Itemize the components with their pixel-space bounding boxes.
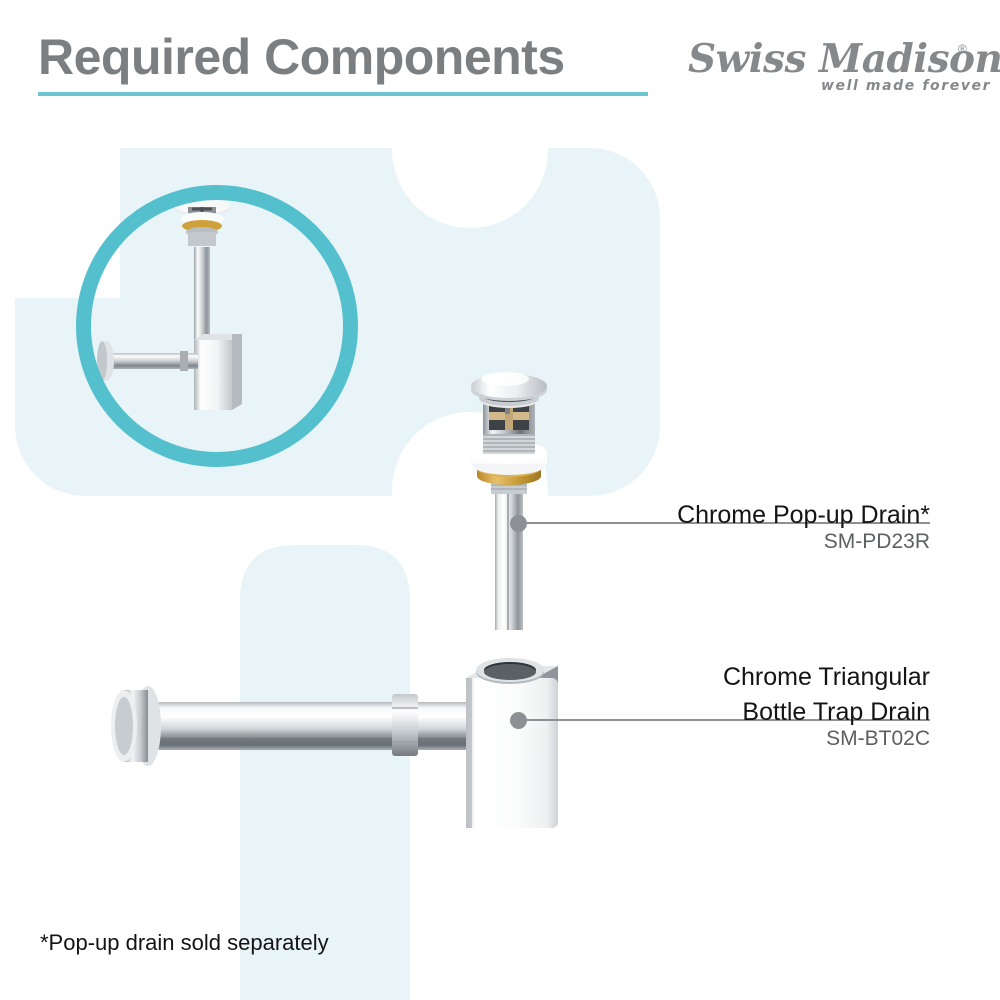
callout-sku-bottle-trap: SM-BT02C: [826, 727, 930, 751]
footnote-text: *Pop-up drain sold separately: [40, 930, 329, 956]
brand-name: Swiss Madison: [688, 36, 970, 82]
title-underline-accent: [38, 92, 648, 96]
inset-highlight-ring: [76, 185, 358, 467]
brand-logo: Swiss Madison ® well made forever: [688, 36, 978, 98]
chrome-pop-up-drain-illustration: [455, 360, 575, 630]
brand-tagline: well made forever: [821, 78, 991, 94]
page-title: Required Components: [38, 28, 565, 86]
callout-title-pop-up-drain: Chrome Pop-up Drain*: [677, 498, 930, 533]
callout-title-bottle-trap-line2: Bottle Trap Drain: [742, 695, 930, 730]
product-spec-page: Required Components Swiss Madison ® well…: [0, 0, 1000, 1000]
registered-trademark-icon: ®: [958, 42, 967, 56]
callout-sku-pop-up-drain: SM-PD23R: [824, 530, 930, 554]
callout-title-bottle-trap-line1: Chrome Triangular: [723, 660, 930, 695]
chrome-triangular-bottle-trap-illustration: [110, 650, 580, 850]
